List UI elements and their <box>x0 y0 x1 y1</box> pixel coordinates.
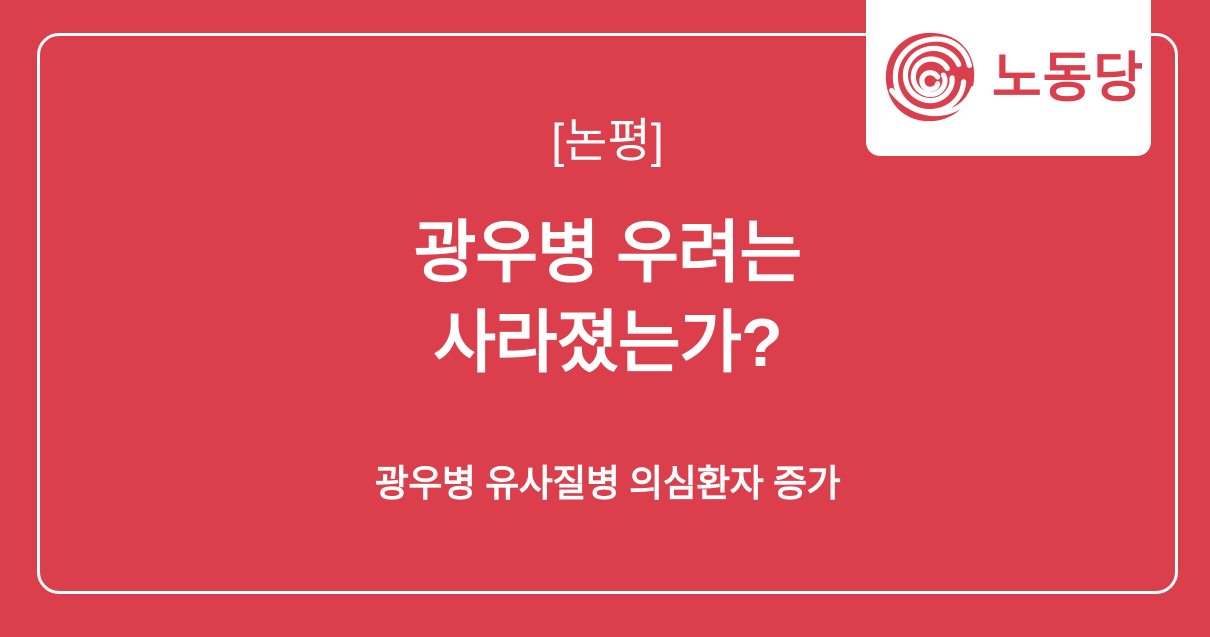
headline-line-1: 광우병 우려는 <box>414 208 801 298</box>
party-wordmark: 노동당 <box>992 51 1144 105</box>
party-logo-plate: 노동당 <box>866 0 1151 156</box>
commentary-card: 노동당 [논평] 광우병 우려는 사라졌는가? 광우병 유사질병 의심환자 증가 <box>0 0 1210 637</box>
eyebrow-label: [논평] <box>551 117 664 164</box>
headline-line-2: 사라졌는가? <box>414 298 801 388</box>
rose-spiral-logo-icon <box>882 29 978 125</box>
page-title: 광우병 우려는 사라졌는가? <box>414 208 801 389</box>
subheadline: 광우병 유사질병 의심환자 증가 <box>375 465 840 502</box>
